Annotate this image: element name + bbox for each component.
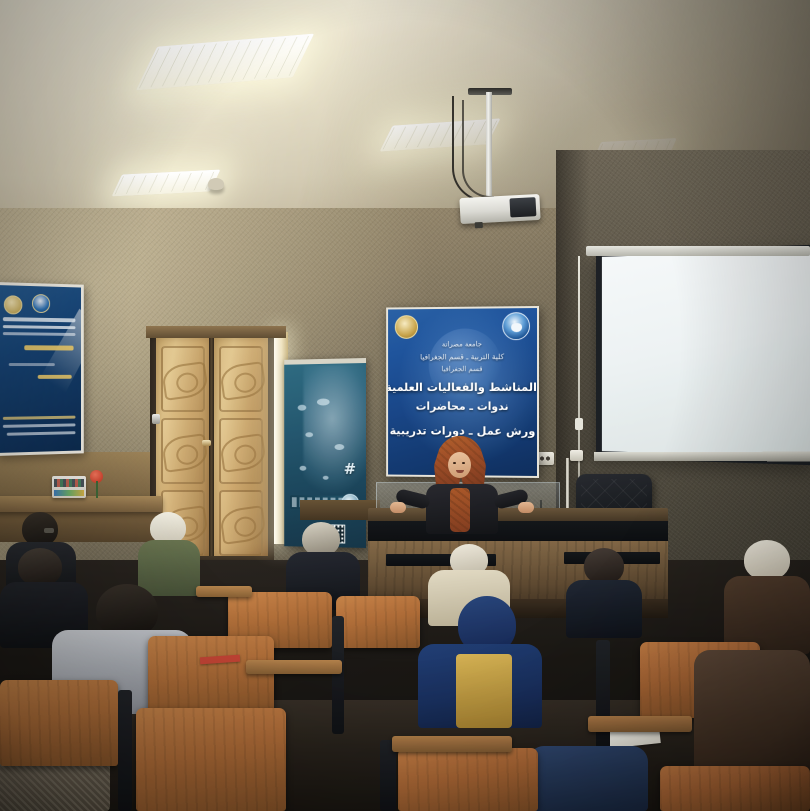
door-latch-icon[interactable] xyxy=(152,414,160,424)
poster-text-line-accent xyxy=(24,345,73,350)
wall-poster xyxy=(0,282,84,456)
seat-support-frame xyxy=(596,640,610,750)
door-center-gap xyxy=(209,338,214,556)
attendee-torso xyxy=(528,746,648,811)
banner-faculty-name: كلية التربية ـ قسم الجغرافيا xyxy=(388,352,537,362)
university-seal-gold-icon xyxy=(395,315,418,339)
hashtag-icon: # xyxy=(344,460,356,478)
banner-headline: المناشط والفعاليات العلمية xyxy=(388,380,537,394)
conference-hall-photo: # جامعة مصراتة كلية التربية ـ قسم الجغرا… xyxy=(0,0,810,811)
poster-text-line-accent xyxy=(38,375,72,379)
poster-seal-gold-icon xyxy=(4,295,22,314)
attendee-suit-man-right xyxy=(566,548,642,634)
auditorium-seat[interactable] xyxy=(148,636,274,716)
attendee-head xyxy=(302,522,340,556)
red-flower xyxy=(90,470,104,498)
presenter-at-podium xyxy=(398,440,528,530)
auditorium-seat[interactable] xyxy=(398,748,538,811)
poster-text-line xyxy=(3,332,76,336)
auditorium-seat[interactable] xyxy=(660,766,810,811)
auditorium-seat[interactable] xyxy=(336,596,420,648)
seat-support-frame xyxy=(332,616,344,734)
seat-writing-tablet[interactable] xyxy=(392,736,512,752)
projector-screen-surface xyxy=(602,250,810,458)
eyeglasses-icon xyxy=(44,528,54,533)
presenter-scarf xyxy=(450,488,470,532)
screen-bottom-bar xyxy=(594,452,810,462)
side-table xyxy=(0,496,162,512)
screen-housing xyxy=(586,246,810,256)
projector-lens-icon xyxy=(509,197,536,217)
auditorium-seat[interactable] xyxy=(0,680,118,766)
attendee-head xyxy=(18,548,62,586)
door-carved-panel xyxy=(161,418,205,484)
poster-text-line xyxy=(3,317,76,322)
projector-foot xyxy=(475,222,483,228)
attendee-torso xyxy=(566,580,642,638)
poster-text-line xyxy=(3,325,76,329)
door-handle-icon[interactable] xyxy=(202,440,211,446)
attendee-navy-hijab xyxy=(418,596,542,722)
faculty-seal-blue-icon xyxy=(502,312,530,340)
banner-university-name: جامعة مصراتة xyxy=(388,340,537,349)
screen-cord-knob[interactable] xyxy=(575,418,583,430)
attendee-hijab xyxy=(744,540,790,580)
attendee-head xyxy=(584,548,624,584)
attendee-blue-shirt-corner xyxy=(528,746,648,811)
seat-writing-tablet[interactable] xyxy=(588,716,692,732)
seat-writing-tablet[interactable] xyxy=(246,660,342,674)
tissue-box xyxy=(52,476,86,498)
door-carved-panel xyxy=(219,418,263,484)
attendee-gold-dress xyxy=(456,654,512,728)
presenter-hand-left xyxy=(390,502,406,513)
presenter-face xyxy=(448,452,471,478)
banner-department-name: قسم الجغرافيا xyxy=(388,365,537,373)
auditorium-seat[interactable] xyxy=(136,708,286,811)
banner-subline-1: ندوات ـ محاضرات xyxy=(388,400,537,413)
door-header-rail xyxy=(146,326,286,338)
door-carved-panel xyxy=(161,346,205,412)
ceiling-projector xyxy=(459,194,540,224)
door-carved-panel xyxy=(219,346,263,412)
projector-cable xyxy=(462,100,494,198)
seat-support-frame xyxy=(118,690,132,811)
door-leaf-right[interactable] xyxy=(214,338,268,556)
rollup-portrait-graphic xyxy=(303,364,366,494)
presenter-hand-right xyxy=(518,502,534,513)
attendee-brown-coat-hijab xyxy=(724,540,810,650)
seat-writing-tablet[interactable] xyxy=(196,586,252,597)
wall-switch-icon[interactable] xyxy=(570,450,583,461)
door-carved-panel xyxy=(219,490,263,556)
attendee-white-hijab-back xyxy=(138,512,200,592)
poster-text-line xyxy=(9,363,55,366)
poster-seal-blue-icon xyxy=(32,294,50,313)
banner-subline-2: ورش عمل ـ دورات تدريبية xyxy=(388,423,537,438)
projector-screen xyxy=(596,244,810,465)
